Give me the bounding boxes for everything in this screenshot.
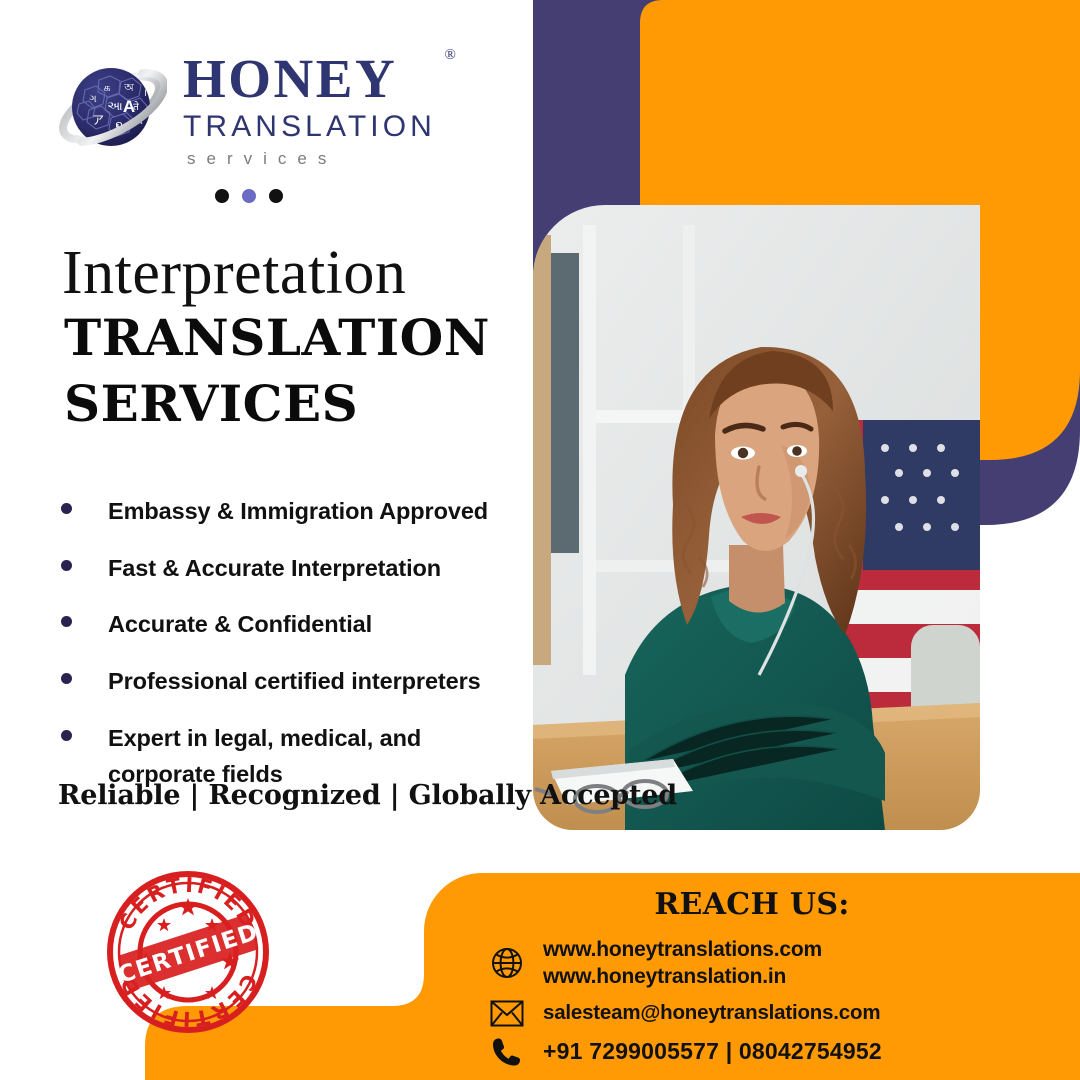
website-line-2[interactable]: www.honeytranslation.in [543,965,786,988]
headline-bold-line-1: TRANSLATION [64,305,544,371]
contact-row-phone[interactable]: +91 7299005577 | 08042754952 [487,1036,1080,1068]
list-item: Accurate & Confidential [55,607,535,643]
svg-text:।: । [143,88,147,99]
svg-text:க: க [103,81,110,94]
contact-email[interactable]: salesteam@honeytranslations.com [527,1000,880,1027]
headline-script: Interpretation [62,238,406,309]
contact-list: www.honeytranslations.com www.honeytrans… [424,936,1080,1068]
contact-website[interactable]: www.honeytranslations.com www.honeytrans… [527,936,822,991]
certified-stamp-icon: CERTIFIED CERTIFIED CERTIFIED [104,868,272,1036]
contact-row-email[interactable]: salesteam@honeytranslations.com [487,1000,1080,1027]
list-item: Fast & Accurate Interpretation [55,551,535,587]
poster-canvas: க অ । ગ આ ते ア ຄ લ A HONEY® TRANSL [0,0,1080,1080]
hero-photo-illustration [533,205,980,830]
brand-wordmark: HONEY® TRANSLATION services [183,48,436,169]
brand-name-primary: HONEY [183,48,397,109]
contact-panel-title: REACH US: [424,873,1080,922]
bullet-dot-icon [61,673,72,684]
list-item: Professional certified interpreters [55,664,535,700]
hero-photo [533,205,980,830]
globe-languages-icon: க অ । ગ આ ते ア ຄ લ A [55,52,167,164]
brand-name-tertiary: services [183,149,436,169]
feature-list: Embassy & Immigration Approved Fast & Ac… [55,494,535,792]
headline-bold-line-2: SERVICES [64,371,544,437]
bullet-dot-icon [61,503,72,514]
feature-text: Professional certified interpreters [108,664,481,700]
bullet-dot-icon [61,730,72,741]
svg-text:ア: ア [92,113,104,127]
contact-row-website[interactable]: www.honeytranslations.com www.honeytrans… [487,936,1080,991]
feature-text: Accurate & Confidential [108,607,372,643]
registered-mark: ® [445,48,456,63]
headline-bold: TRANSLATION SERVICES [64,305,544,436]
contact-phone[interactable]: +91 7299005577 | 08042754952 [527,1037,882,1067]
tagline: Reliable | Recognized | Globally Accepte… [58,780,677,811]
svg-text:অ: অ [123,81,134,94]
bullet-dot-icon [61,560,72,571]
logo-dot-1 [215,189,229,203]
brand-logo[interactable]: க অ । ગ આ ते ア ຄ લ A HONEY® TRANSL [55,48,475,203]
logo-dots [215,189,475,203]
svg-text:આ: આ [107,99,122,113]
logo-dot-3 [269,189,283,203]
brand-name-secondary: TRANSLATION [183,110,436,144]
contact-panel: REACH US: www.honeytranslations.com www.… [424,873,1080,1080]
bullet-dot-icon [61,616,72,627]
feature-text: Fast & Accurate Interpretation [108,551,441,587]
logo-dot-2 [242,189,256,203]
list-item: Embassy & Immigration Approved [55,494,535,530]
phone-icon [487,1036,527,1068]
globe-icon [487,946,527,980]
feature-text: Embassy & Immigration Approved [108,494,488,530]
envelope-icon [487,1000,527,1027]
svg-text:ગ: ગ [89,94,96,105]
svg-text:A: A [123,97,135,116]
website-line-1[interactable]: www.honeytranslations.com [543,938,822,961]
